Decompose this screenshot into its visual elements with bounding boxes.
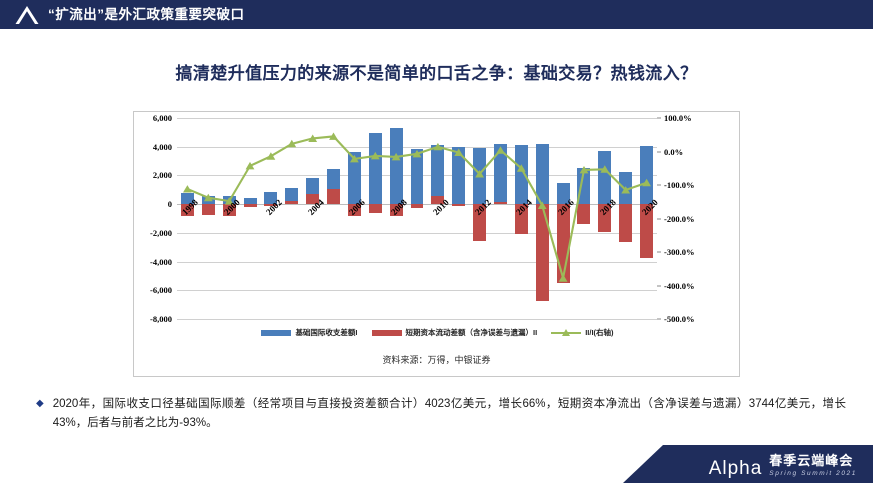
y-axis-right-tick: -200.0% (657, 214, 717, 224)
line-marker (642, 179, 651, 187)
triangle-logo-icon (14, 5, 40, 25)
bullet-marker-icon: ◆ (34, 395, 44, 412)
y-axis-right-tick: -500.0% (657, 314, 717, 324)
y-axis-left-tick: 0 (135, 199, 177, 209)
y-axis-right-tick: -100.0% (657, 180, 717, 190)
legend-label-blue: 基础国际收支差额I (295, 327, 357, 338)
y-axis-left-tick: 2,000 (135, 170, 177, 180)
gridline (177, 319, 657, 320)
header-title: “扩流出”是外汇政策重要突破口 (48, 8, 245, 22)
legend-swatch-red (372, 330, 402, 336)
y-axis-left-tick: -8,000 (135, 314, 177, 324)
y-axis-right-tick: -300.0% (657, 247, 717, 257)
legend-item-red: 短期资本流动差额（含净误差与遗漏）II (372, 327, 538, 338)
chart-plot-area: 6,0004,0002,0000-2,000-4,000-6,000-8,000… (177, 118, 657, 319)
legend-label-line: II/I(右轴) (585, 327, 613, 338)
chart-line-series (177, 118, 657, 319)
footer-brand: Alpha 春季云端峰会 Spring Summit 2021 (709, 454, 857, 478)
bullet-text: 2020年，国际收支口径基础国际顺差（经常项目与直接投资差额合计）4023亿美元… (53, 395, 846, 433)
slide-footer: Alpha 春季云端峰会 Spring Summit 2021 (0, 445, 873, 483)
legend-swatch-line (551, 328, 581, 338)
y-axis-left-tick: 4,000 (135, 142, 177, 152)
footer-brand-alpha: Alpha (709, 459, 763, 478)
footer-brand-cn: 春季云端峰会 (769, 454, 853, 469)
y-axis-left-tick: -4,000 (135, 257, 177, 267)
slide-header: “扩流出”是外汇政策重要突破口 (0, 0, 873, 29)
page-title: 搞清楚升值压力的来源不是简单的口舌之争：基础交易？热钱流入？ (0, 59, 873, 84)
chart-source-note: 资料来源：万得，中银证券 (133, 353, 740, 366)
footer-brand-en: Spring Summit 2021 (769, 469, 857, 478)
bullet-block: ◆ 2020年，国际收支口径基础国际顺差（经常项目与直接投资差额合计）4023亿… (34, 395, 846, 433)
line-marker (538, 202, 547, 210)
chart-panel: 6,0004,0002,0000-2,000-4,000-6,000-8,000… (133, 111, 740, 377)
line-path (187, 136, 646, 278)
y-axis-left-tick: -2,000 (135, 228, 177, 238)
y-axis-right-tick: 100.0% (657, 113, 717, 123)
line-marker (246, 162, 255, 170)
y-axis-right-tick: -400.0% (657, 281, 717, 291)
y-axis-left-tick: -6,000 (135, 285, 177, 295)
line-marker (183, 185, 192, 192)
slide-canvas: “扩流出”是外汇政策重要突破口 搞清楚升值压力的来源不是简单的口舌之争：基础交易… (0, 0, 873, 483)
legend-item-line: II/I(右轴) (551, 327, 613, 338)
legend-item-blue: 基础国际收支差额I (261, 327, 357, 338)
line-marker (559, 274, 568, 282)
line-marker (496, 146, 505, 154)
legend-label-red: 短期资本流动差额（含净误差与遗漏）II (406, 327, 538, 338)
y-axis-left-tick: 6,000 (135, 113, 177, 123)
y-axis-right-tick: 0.0% (657, 147, 717, 157)
chart-legend: 基础国际收支差额I 短期资本流动差额（含净误差与遗漏）II II/I(右轴) (134, 327, 741, 338)
footer-brand-cn-wrap: 春季云端峰会 Spring Summit 2021 (769, 454, 857, 478)
legend-swatch-blue (261, 330, 291, 336)
